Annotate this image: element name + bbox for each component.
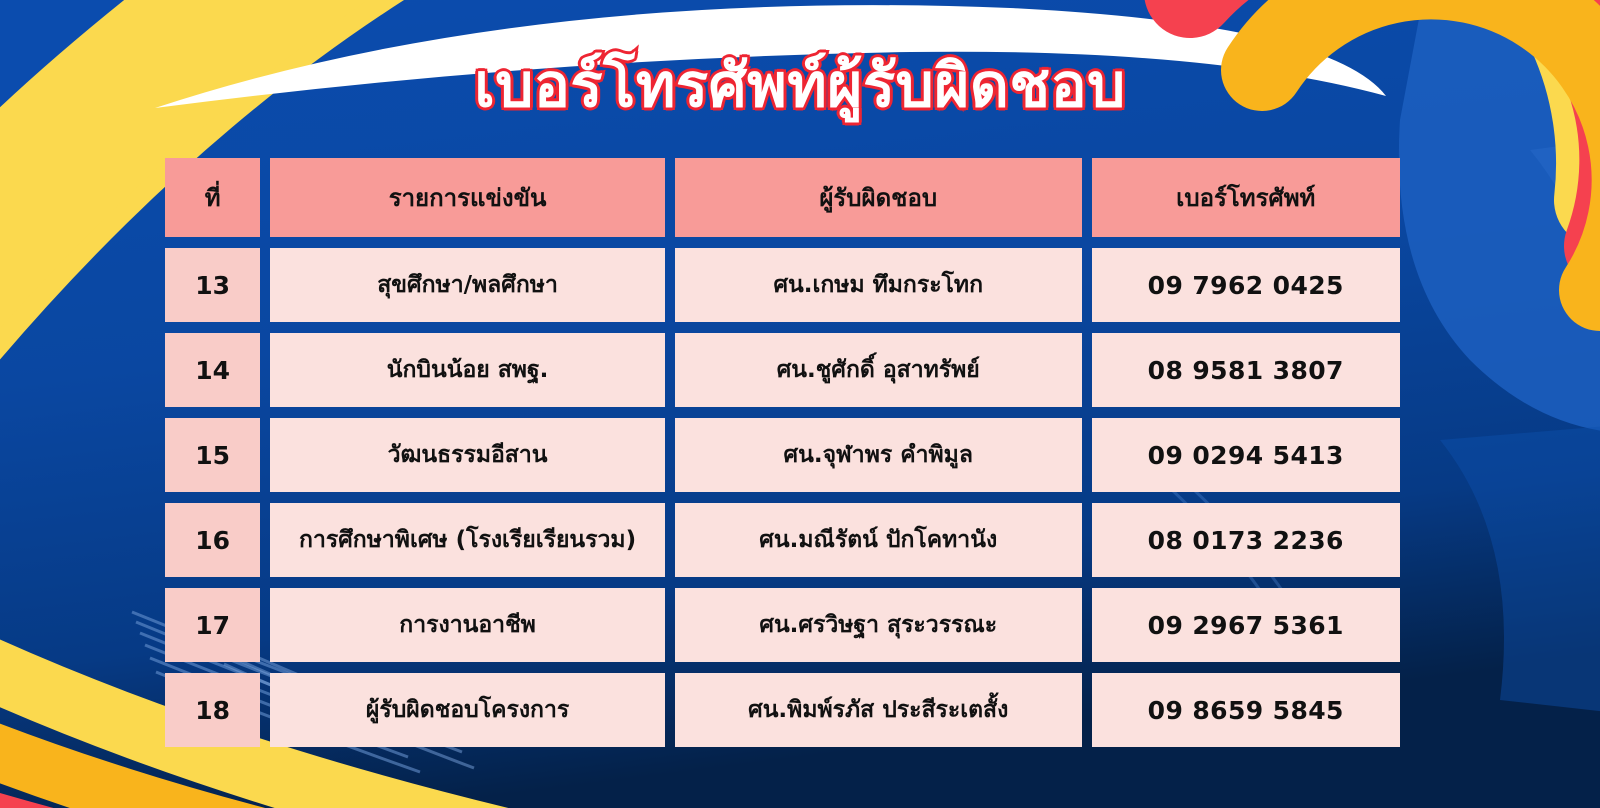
cell-person: ศน.ศรวิษฐา สุระวรรณะ bbox=[675, 588, 1082, 662]
table-row: 18 ผู้รับผิดชอบโครงการ ศน.พิมพ์รภัส ประส… bbox=[165, 673, 1400, 747]
cell-phone: 08 9581 3807 bbox=[1092, 333, 1400, 407]
cell-person: ศน.พิมพ์รภัส ประสีระเตสั้ง bbox=[675, 673, 1082, 747]
title-container: เบอร์โทรศัพท์ผู้รับผิดชอบ bbox=[0, 56, 1600, 116]
table-header-row: ที่ รายการแข่งขัน ผู้รับผิดชอบ เบอร์โทรศ… bbox=[165, 158, 1400, 237]
cell-no: 13 bbox=[165, 248, 260, 322]
cell-event: สุขศึกษา/พลศึกษา bbox=[270, 248, 665, 322]
cell-no: 14 bbox=[165, 333, 260, 407]
header-cell-person: ผู้รับผิดชอบ bbox=[675, 158, 1082, 237]
header-cell-phone: เบอร์โทรศัพท์ bbox=[1092, 158, 1400, 237]
cell-no: 17 bbox=[165, 588, 260, 662]
table-row: 15 วัฒนธรรมอีสาน ศน.จุฬาพร คำพิมูล 09 02… bbox=[165, 418, 1400, 492]
cell-phone: 09 7962 0425 bbox=[1092, 248, 1400, 322]
cell-phone: 09 0294 5413 bbox=[1092, 418, 1400, 492]
table-row: 16 การศึกษาพิเศษ (โรงเรียเรียนรวม) ศน.มณ… bbox=[165, 503, 1400, 577]
cell-event: วัฒนธรรมอีสาน bbox=[270, 418, 665, 492]
table-row: 13 สุขศึกษา/พลศึกษา ศน.เกษม ทึมกระโทก 09… bbox=[165, 248, 1400, 322]
cell-phone: 08 0173 2236 bbox=[1092, 503, 1400, 577]
cell-no: 16 bbox=[165, 503, 260, 577]
cell-event: การศึกษาพิเศษ (โรงเรียเรียนรวม) bbox=[270, 503, 665, 577]
cell-person: ศน.จุฬาพร คำพิมูล bbox=[675, 418, 1082, 492]
cell-event: การงานอาชีพ bbox=[270, 588, 665, 662]
cell-phone: 09 2967 5361 bbox=[1092, 588, 1400, 662]
cell-person: ศน.เกษม ทึมกระโทก bbox=[675, 248, 1082, 322]
cell-event: นักบินน้อย สพฐ. bbox=[270, 333, 665, 407]
cell-person: ศน.ชูศักดิ์ อุสาทรัพย์ bbox=[675, 333, 1082, 407]
table-row: 17 การงานอาชีพ ศน.ศรวิษฐา สุระวรรณะ 09 2… bbox=[165, 588, 1400, 662]
cell-no: 15 bbox=[165, 418, 260, 492]
page-title: เบอร์โทรศัพท์ผู้รับผิดชอบ bbox=[474, 56, 1125, 116]
poster-canvas: เบอร์โทรศัพท์ผู้รับผิดชอบ ที่ รายการแข่ง… bbox=[0, 0, 1600, 808]
header-cell-event: รายการแข่งขัน bbox=[270, 158, 665, 237]
cell-event: ผู้รับผิดชอบโครงการ bbox=[270, 673, 665, 747]
table-row: 14 นักบินน้อย สพฐ. ศน.ชูศักดิ์ อุสาทรัพย… bbox=[165, 333, 1400, 407]
cell-no: 18 bbox=[165, 673, 260, 747]
contacts-table: ที่ รายการแข่งขัน ผู้รับผิดชอบ เบอร์โทรศ… bbox=[165, 158, 1400, 747]
header-cell-no: ที่ bbox=[165, 158, 260, 237]
cell-phone: 09 8659 5845 bbox=[1092, 673, 1400, 747]
cell-person: ศน.มณีรัตน์ ปักโคทานัง bbox=[675, 503, 1082, 577]
